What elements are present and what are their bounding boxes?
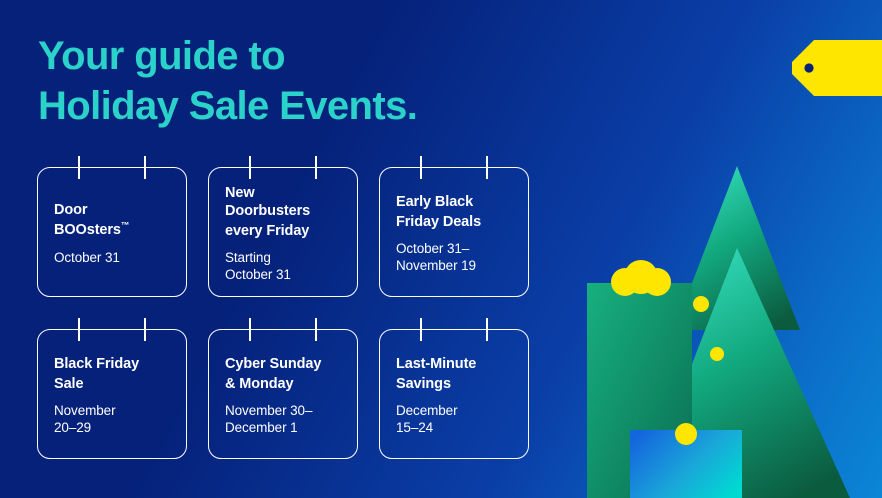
- ornament-1: [693, 296, 709, 312]
- event-card-date: October 31– November 19: [396, 240, 514, 274]
- event-card-door-boosters[interactable]: Door BOOsters™ October 31: [37, 167, 187, 297]
- blue-gift-box: [630, 430, 742, 498]
- gift-bow: [611, 260, 671, 296]
- ornament-3: [675, 423, 697, 445]
- holiday-tree-illustration: [582, 158, 882, 498]
- headline-line-1: Your guide to: [38, 32, 558, 82]
- event-card-date: Starting October 31: [225, 249, 343, 283]
- event-card-title: Door BOOsters™: [54, 202, 172, 240]
- event-card-cyber-sunday-monday[interactable]: Cyber Sunday & Monday November 30– Decem…: [208, 329, 358, 459]
- green-gift-box: [587, 283, 692, 498]
- ornament-2: [710, 347, 724, 361]
- page-title: Your guide to Holiday Sale Events.: [38, 32, 558, 131]
- event-card-last-minute-savings[interactable]: Last-Minute Savings December 15–24: [379, 329, 529, 459]
- event-card-title: Early Black Friday Deals: [396, 194, 514, 232]
- event-card-title: Black Friday Sale: [54, 356, 172, 394]
- tree-lower-tier: [640, 248, 850, 498]
- price-tag-icon: [790, 40, 882, 96]
- event-card-title: Cyber Sunday & Monday: [225, 356, 343, 394]
- headline-line-2: Holiday Sale Events.: [38, 82, 558, 132]
- event-card-date: December 15–24: [396, 402, 514, 436]
- event-card-title: Last-Minute Savings: [396, 356, 514, 394]
- trademark-symbol: ™: [121, 220, 129, 230]
- event-card-new-doorbusters[interactable]: New Doorbusters every Friday Starting Oc…: [208, 167, 358, 297]
- event-card-black-friday-sale[interactable]: Black Friday Sale November 20–29: [37, 329, 187, 459]
- event-card-grid: Door BOOsters™ October 31 New Doorbuster…: [37, 167, 529, 459]
- event-card-date: October 31: [54, 249, 172, 266]
- tree-upper-tier: [674, 166, 800, 330]
- promo-banner: Your guide to Holiday Sale Events. Door …: [0, 0, 882, 498]
- event-card-early-black-friday[interactable]: Early Black Friday Deals October 31– Nov…: [379, 167, 529, 297]
- event-card-date: November 30– December 1: [225, 402, 343, 436]
- event-card-title: New Doorbusters every Friday: [225, 185, 343, 241]
- event-card-date: November 20–29: [54, 402, 172, 436]
